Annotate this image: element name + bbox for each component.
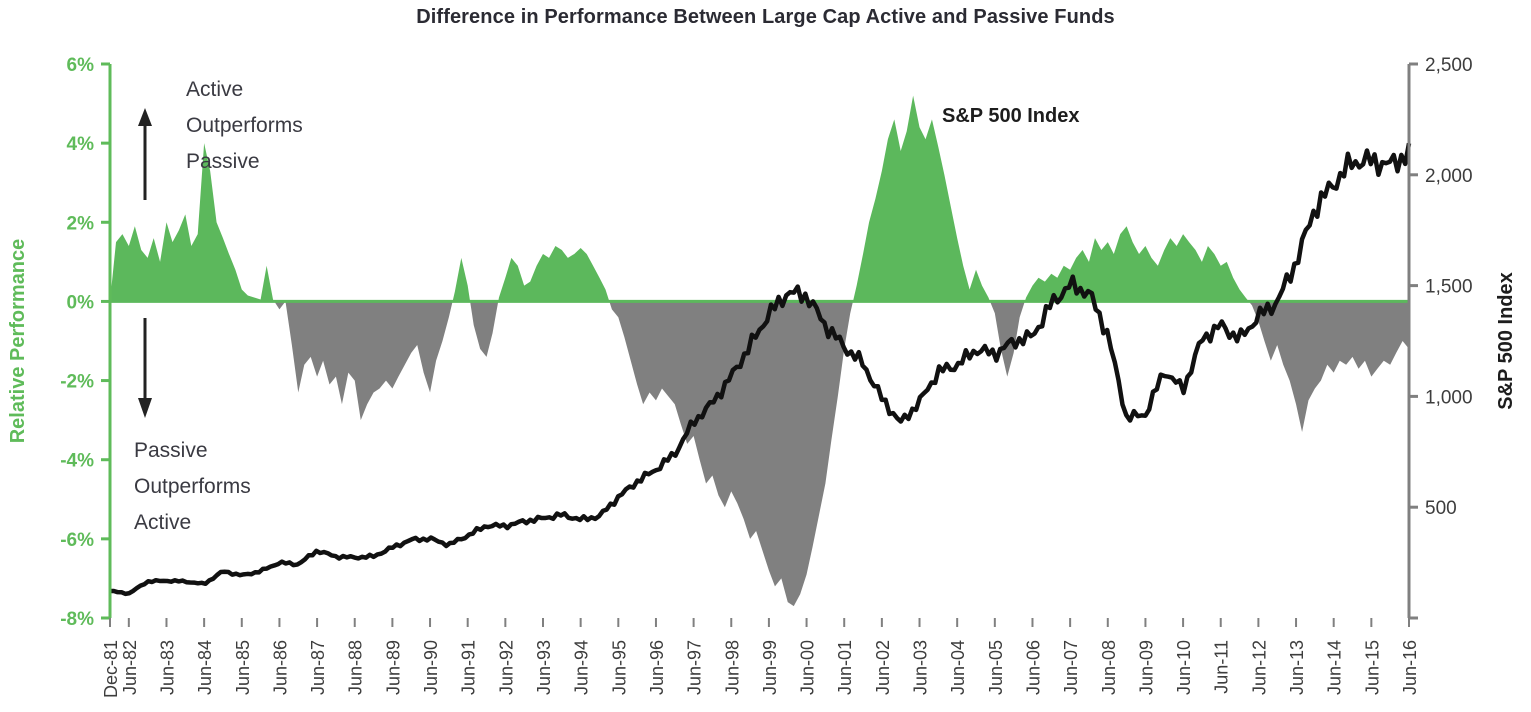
x-tick-label: Jun-83 (157, 640, 177, 695)
x-tick-label: Jun-06 (1023, 640, 1043, 695)
x-tick-label: Jun-11 (1212, 640, 1232, 694)
left-tick-label: 4% (67, 134, 95, 155)
x-tick-label: Jun-93 (534, 640, 554, 695)
x-tick-label: Jun-04 (948, 640, 968, 695)
x-tick-label: Jun-02 (873, 640, 893, 695)
x-tick-label: Jun-82 (120, 640, 140, 695)
x-tick-label: Jun-08 (1099, 640, 1119, 695)
x-tick-label: Jun-09 (1136, 640, 1156, 695)
right-tick-label: 500 (1425, 498, 1457, 519)
passive-outperforms-line: Outperforms (134, 475, 251, 498)
x-tick-label: Jun-10 (1174, 640, 1194, 695)
x-tick-label: Jun-85 (233, 640, 253, 695)
x-tick-label: Jun-12 (1249, 640, 1269, 695)
x-tick-label: Jun-95 (609, 640, 629, 695)
left-tick-label: -8% (60, 609, 94, 630)
sp500-series-label: S&P 500 Index (942, 105, 1079, 127)
x-tick-label: Jun-87 (308, 640, 328, 695)
x-tick-label: Dec-81 (101, 640, 121, 698)
x-tick-label: Jun-01 (835, 640, 855, 695)
x-tick-label: Jun-90 (421, 640, 441, 695)
left-tick-label: 0% (67, 292, 95, 313)
left-tick-label: 2% (67, 213, 95, 234)
active-outperforms-line: Active (186, 78, 243, 101)
right-tick-label: 1,000 (1425, 387, 1473, 408)
x-tick-label: Jun-91 (459, 640, 479, 695)
left-tick-label: -6% (60, 530, 94, 551)
x-tick-label: Jun-96 (647, 640, 667, 695)
passive-outperforms-line: Passive (134, 439, 208, 462)
x-tick-label: Jun-88 (346, 640, 366, 695)
x-tick-label: Jun-97 (685, 640, 705, 695)
left-tick-label: 6% (67, 55, 95, 76)
active-outperforms-line: Outperforms (186, 114, 303, 137)
left-axis-title: Relative Performance (7, 239, 29, 444)
x-tick-label: Jun-92 (496, 640, 516, 695)
passive-outperforms-line: Active (134, 511, 191, 534)
relative-performance-area (110, 96, 1409, 606)
right-axis-title: S&P 500 Index (1495, 272, 1517, 409)
negative-area (110, 96, 1409, 606)
right-tick-label: 2,500 (1425, 55, 1473, 76)
right-tick-label: 2,000 (1425, 166, 1473, 187)
left-tick-label: -4% (60, 451, 94, 472)
up-arrow-head (138, 108, 152, 126)
x-tick-label: Jun-05 (986, 640, 1006, 695)
x-tick-label: Jun-00 (798, 640, 818, 695)
x-tick-label: Jun-84 (195, 640, 215, 695)
right-tick-label: 1,500 (1425, 277, 1473, 298)
x-tick-label: Jun-98 (722, 640, 742, 695)
chart-container: Difference in Performance Between Large … (0, 0, 1531, 712)
x-tick-label: Jun-14 (1325, 640, 1345, 695)
x-tick-label: Jun-99 (760, 640, 780, 695)
x-tick-label: Jun-16 (1400, 640, 1420, 695)
chart-svg: 6%4%2%0%-2%-4%-6%-8%2,5002,0001,5001,000… (0, 0, 1531, 712)
active-outperforms-line: Passive (186, 150, 260, 173)
x-tick-label: Jun-03 (911, 640, 931, 695)
left-tick-label: -2% (60, 372, 94, 393)
down-arrow-head (138, 398, 152, 418)
x-tick-label: Jun-07 (1061, 640, 1081, 695)
x-tick-label: Jun-86 (270, 640, 290, 695)
x-tick-label: Jun-89 (383, 640, 403, 695)
x-tick-label: Jun-13 (1287, 640, 1307, 695)
x-tick-label: Jun-15 (1362, 640, 1382, 695)
x-tick-label: Jun-94 (572, 640, 592, 695)
